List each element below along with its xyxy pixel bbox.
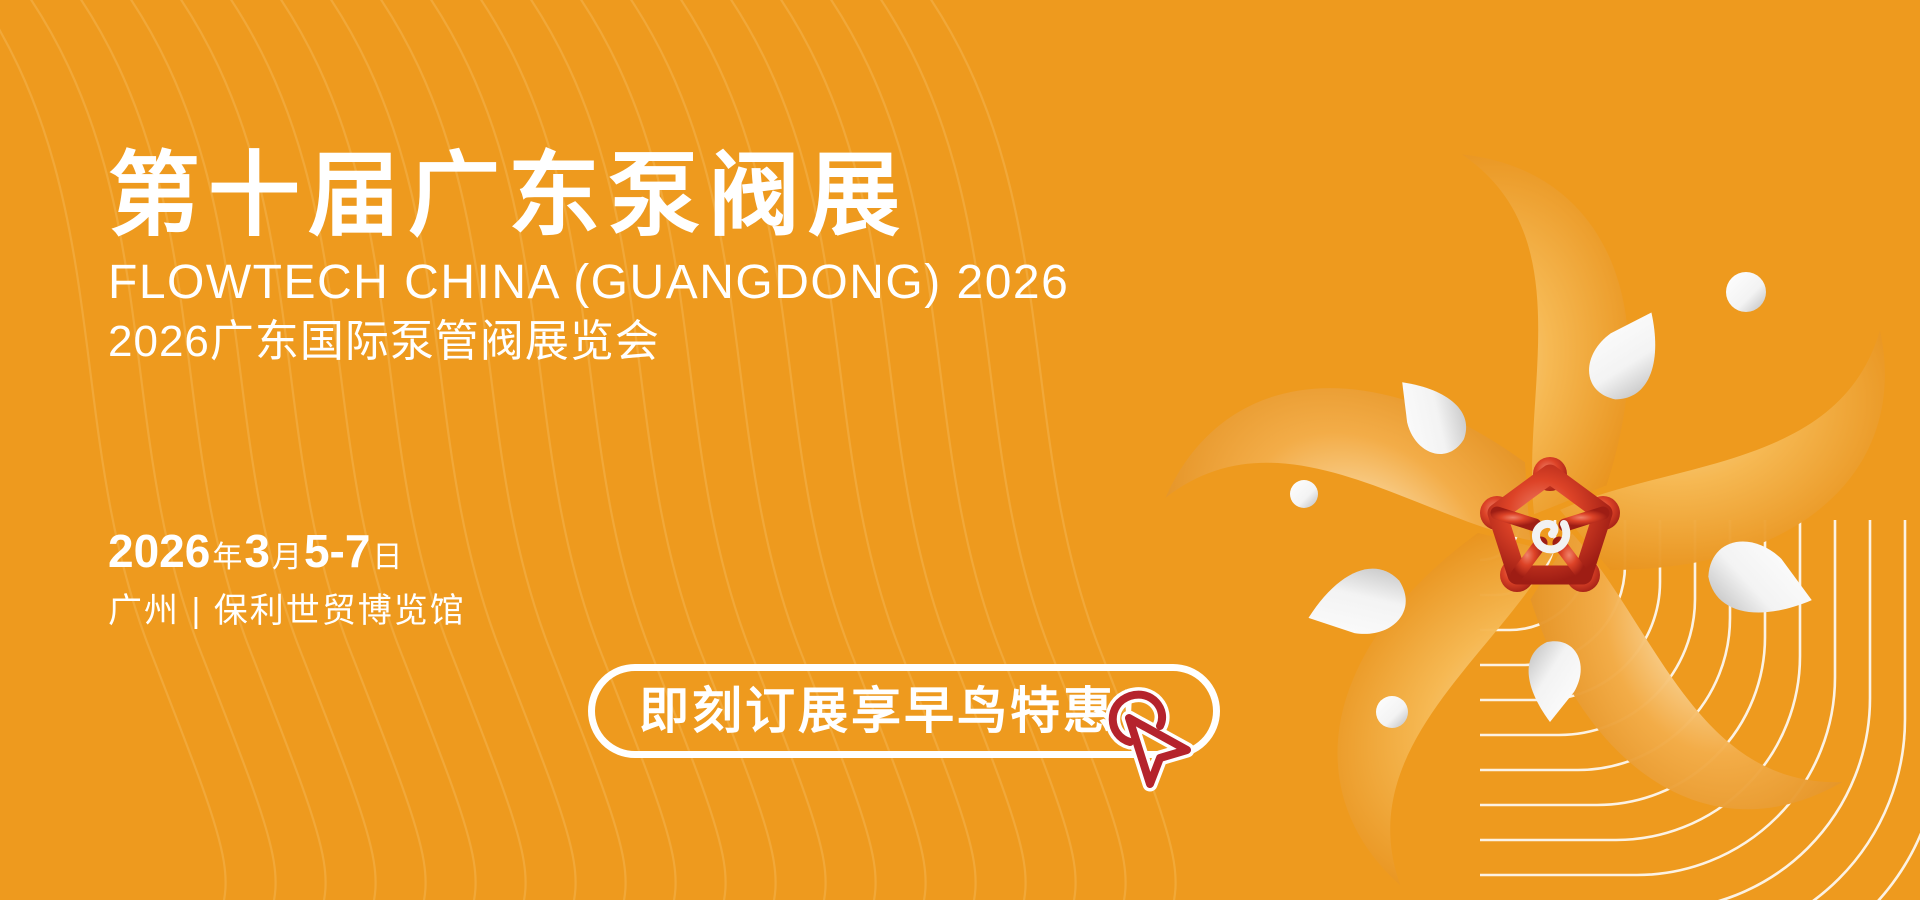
flower-svg [1140, 120, 1920, 900]
background-pattern [0, 0, 1920, 900]
event-venue: 广州 | 保利世贸博览馆 [108, 594, 466, 628]
cta-area: 即刻订展享早鸟特惠！ [588, 664, 1220, 758]
date-month: 3 [244, 528, 270, 574]
valve-handwheel-icon [1480, 457, 1620, 592]
title-english: FLOWTECH CHINA (GUANGDONG) 2026 [108, 258, 1168, 308]
headline-block: 第十届广东泵阀展 FLOWTECH CHINA (GUANGDONG) 2026… [108, 150, 1168, 367]
concentric-curve-lines-pattern [0, 0, 1920, 900]
title-subtitle-chinese: 2026广东国际泵管阀展览会 [108, 318, 1168, 366]
pinwheel-valve-flower-graphic [1140, 120, 1920, 900]
page-title: 第十届广东泵阀展 [108, 150, 1168, 242]
cta-label: 即刻订展享早鸟特惠！ [639, 686, 1169, 736]
petal-group [1162, 150, 1885, 889]
date-day-unit: 日 [370, 543, 404, 573]
event-promo-banner: 第十届广东泵阀展 FLOWTECH CHINA (GUANGDONG) 2026… [0, 0, 1920, 900]
early-bird-booking-button[interactable]: 即刻订展享早鸟特惠！ [588, 664, 1220, 758]
water-droplet-group [1290, 272, 1822, 728]
date-month-unit: 月 [270, 543, 304, 573]
event-date: 2026 年 3 月 5-7 日 [108, 528, 466, 574]
date-year: 2026 [108, 528, 210, 574]
event-meta-block: 2026 年 3 月 5-7 日 广州 | 保利世贸博览馆 [108, 528, 466, 628]
date-days: 5-7 [304, 528, 370, 574]
date-year-unit: 年 [210, 543, 244, 573]
